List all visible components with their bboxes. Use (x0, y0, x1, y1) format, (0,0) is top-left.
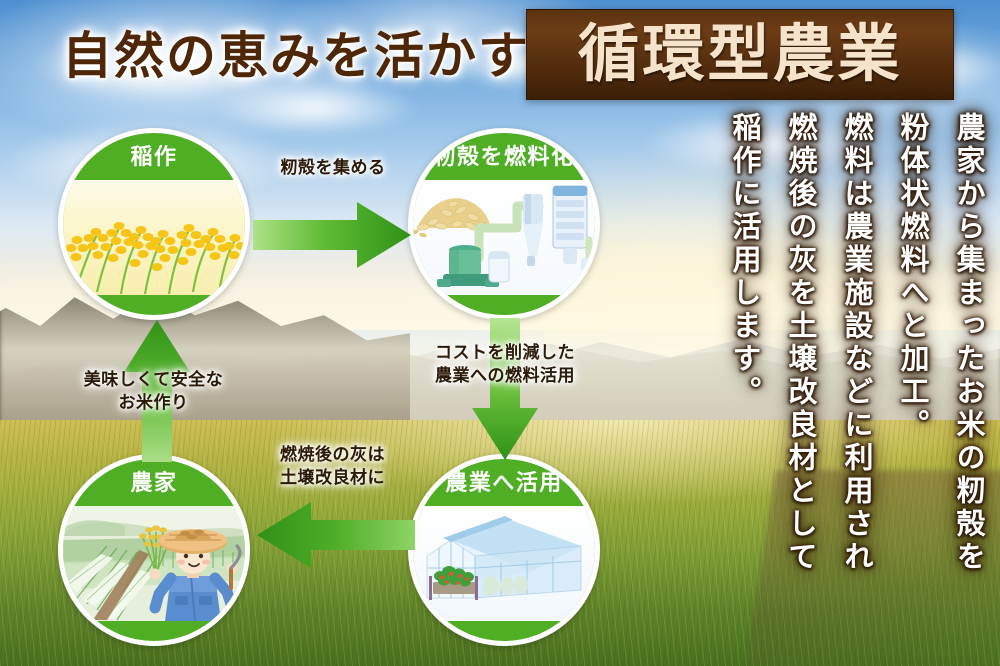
greenhouse-icon (413, 506, 595, 621)
cycle-node-title: 籾殻を燃料化 (413, 133, 595, 180)
vertical-copy-column: 稲作に活用します。 (702, 112, 758, 648)
farmer-icon (63, 506, 245, 621)
page-title-lead: 自然の恵みを活かす (62, 24, 512, 88)
cycle-arrow-left (255, 500, 415, 570)
cycle-node-body: 籾殻を燃料化 (413, 133, 595, 315)
label-line: 農業への燃料活用 (405, 364, 605, 387)
cycle-node-body: 農家 (63, 459, 245, 641)
label-line: コストを削減した (405, 341, 605, 364)
label-line: 燃焼後の灰は (240, 443, 425, 466)
vertical-copy-column: 燃料は農業施設などに利用され (814, 112, 870, 648)
vertical-copy-column: 粉体状燃料へと加工。 (870, 112, 926, 648)
cycle-arrow-up-label: 美味しくて安全な お米作り (56, 368, 251, 414)
label-line: 土壌改良材に (240, 466, 425, 489)
rice-field-illustration (63, 180, 245, 295)
cycle-node-title: 稲作 (63, 133, 245, 180)
label-line: 籾殻を集める (253, 156, 413, 179)
page-title-main: 循環型農業 (577, 24, 902, 86)
cycle-node-farmer[interactable]: 農家 (58, 454, 250, 646)
cycle-node-title: 農業へ活用 (413, 459, 595, 506)
greenhouse-illustration (413, 506, 595, 621)
cycle-arrow-right (253, 200, 413, 270)
cycle-node-agriculture[interactable]: 農業へ活用 (408, 454, 600, 646)
husk-fuel-plant-illustration (413, 180, 595, 295)
cycle-arrow-down (470, 318, 540, 462)
cycle-arrow-down-label: コストを削減した 農業への燃料活用 (405, 341, 605, 387)
cycle-node-rice[interactable]: 稲作 (58, 128, 250, 320)
label-line: お米作り (56, 391, 251, 414)
page-title-box: 循環型農業 (526, 9, 954, 100)
cycle-node-fuel[interactable]: 籾殻を燃料化 (408, 128, 600, 320)
cycle-arrow-left-label: 燃焼後の灰は 土壌改良材に (240, 443, 425, 489)
cycle-node-body: 農業へ活用 (413, 459, 595, 641)
rice-stalks-icon (63, 180, 245, 295)
farmer-illustration (63, 506, 245, 621)
vertical-copy-column: 農家から集まったお米の籾殻を (926, 112, 982, 648)
infographic-canvas: 自然の恵みを活かす 循環型農業 稲作 (0, 0, 1000, 666)
cycle-arrow-right-label: 籾殻を集める (253, 156, 413, 179)
cycle-node-title: 農家 (63, 459, 245, 506)
fuel-plant-icon (413, 180, 595, 295)
label-line: 美味しくて安全な (56, 368, 251, 391)
vertical-copy-column: 燃焼後の灰を土壌改良材として (758, 112, 814, 648)
vertical-description: 農家から集まったお米の籾殻を 粉体状燃料へと加工。 燃料は農業施設などに利用され… (702, 112, 982, 648)
cycle-node-body: 稲作 (63, 133, 245, 315)
